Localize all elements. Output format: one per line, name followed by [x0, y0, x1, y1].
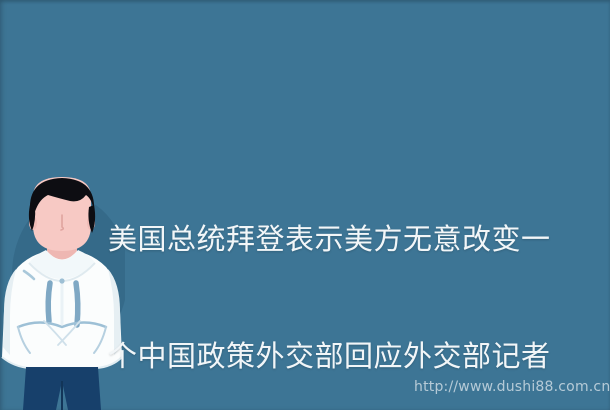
- headline-text: 美国总统拜登表示美方无意改变一 个中国政策外交部回应外交部记者: [108, 142, 594, 410]
- headline-line-1: 美国总统拜登表示美方无意改变一: [108, 220, 594, 259]
- news-cover-card: 美国总统拜登表示美方无意改变一 个中国政策外交部回应外交部记者 http://w…: [0, 0, 610, 410]
- person-illustration-svg: [0, 175, 125, 410]
- hood-eyelet: [59, 278, 64, 283]
- drawstring-right: [76, 283, 78, 325]
- headline-line-2: 个中国政策外交部回应外交部记者: [108, 337, 594, 376]
- drawstring-left: [48, 283, 50, 321]
- person-illustration: [0, 175, 125, 410]
- watermark-url: http://www.dushi88.com.cn: [414, 379, 610, 395]
